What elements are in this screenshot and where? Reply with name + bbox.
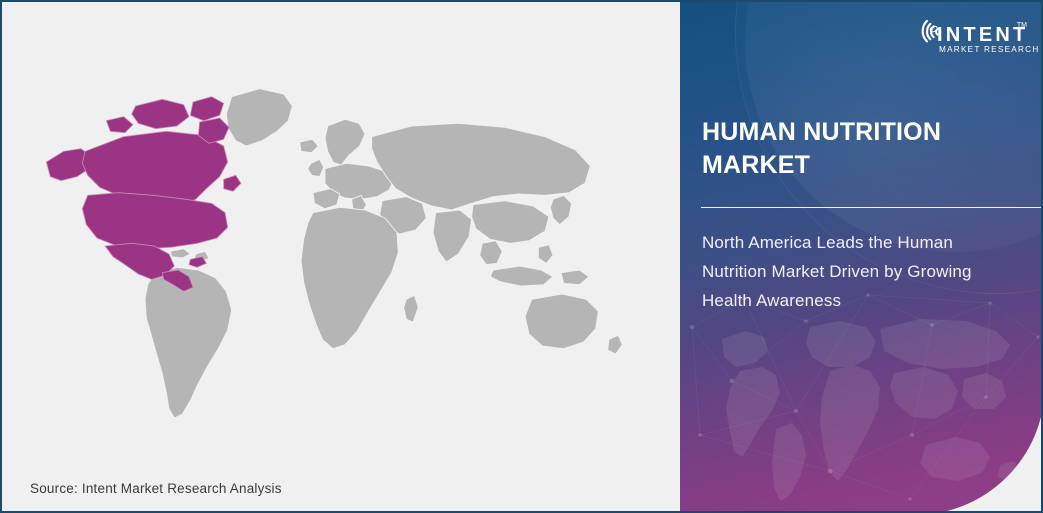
- logo-wordmark: INTENT: [937, 25, 1028, 45]
- panel-map-watermark-icon: [680, 305, 1043, 513]
- brand-logo[interactable]: INTENT TM MARKET RESEARCH: [915, 13, 1027, 60]
- logo-tagline: MARKET RESEARCH: [939, 46, 1040, 54]
- panel-subtitle: North America Leads the Human Nutrition …: [702, 228, 992, 316]
- logo-trademark: TM: [1017, 22, 1027, 29]
- panel-network-decoration: [680, 285, 1043, 513]
- infographic-card: Source: Intent Market Research Analysis: [0, 0, 1043, 513]
- headline-panel: INTENT TM MARKET RESEARCH HUMAN NUTRITIO…: [680, 2, 1043, 513]
- page-title: HUMAN NUTRITION MARKET: [702, 116, 1002, 182]
- map-highlight-north-america: [46, 97, 241, 292]
- map-panel: Source: Intent Market Research Analysis: [2, 2, 680, 513]
- title-divider: [701, 207, 1043, 208]
- world-map: [10, 62, 680, 462]
- source-label: Source: Intent Market Research Analysis: [30, 481, 282, 496]
